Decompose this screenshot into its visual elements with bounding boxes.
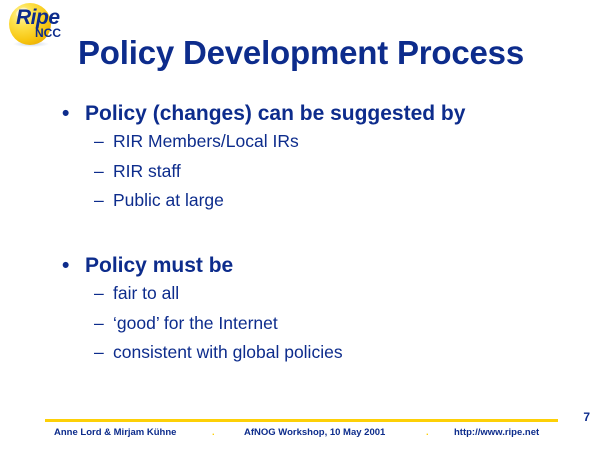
list-item: – RIR Members/Local IRs	[0, 127, 600, 157]
list-item-label: consistent with global policies	[113, 342, 343, 362]
list-item-label: ‘good’ for the Internet	[113, 313, 278, 333]
page-number: 7	[583, 410, 590, 424]
bullet-heading-1-label: Policy (changes) can be suggested by	[85, 102, 465, 125]
block-spacer	[0, 216, 600, 252]
dash-icon: –	[94, 186, 104, 216]
bullet-dot-icon: •	[62, 252, 69, 279]
bullet-block-2: • Policy must be – fair to all – ‘good’ …	[0, 252, 600, 368]
dash-icon: –	[94, 157, 104, 187]
footer-url[interactable]: http://www.ripe.net	[454, 427, 539, 438]
bullet-dot-icon: •	[62, 100, 69, 127]
dash-icon: –	[94, 338, 104, 368]
list-item: – ‘good’ for the Internet	[0, 309, 600, 339]
slide-body: • Policy (changes) can be suggested by –…	[0, 100, 600, 368]
footer-separator-dot: .	[426, 427, 429, 438]
ripe-ncc-logo: Ripe NCC	[7, 1, 65, 51]
slide-footer: Anne Lord & Mirjam Kühne . AfNOG Worksho…	[45, 427, 558, 443]
footer-divider	[45, 419, 558, 422]
list-item: – RIR staff	[0, 157, 600, 187]
footer-separator-dot: .	[212, 427, 215, 438]
list-item-label: Public at large	[113, 190, 224, 210]
list-item-label: RIR Members/Local IRs	[113, 131, 299, 151]
list-item: – fair to all	[0, 279, 600, 309]
dash-icon: –	[94, 309, 104, 339]
bullet-heading-2: • Policy must be	[0, 252, 600, 279]
slide-canvas: Ripe NCC Policy Development Process • Po…	[0, 0, 600, 450]
footer-event: AfNOG Workshop, 10 May 2001	[244, 427, 385, 438]
bullet-heading-2-label: Policy must be	[85, 254, 233, 277]
list-item-label: fair to all	[113, 283, 179, 303]
page-title: Policy Development Process	[78, 36, 578, 71]
list-item: – consistent with global policies	[0, 338, 600, 368]
bullet-block-1: • Policy (changes) can be suggested by –…	[0, 100, 600, 216]
list-item: – Public at large	[0, 186, 600, 216]
list-item-label: RIR staff	[113, 161, 181, 181]
footer-author: Anne Lord & Mirjam Kühne	[54, 427, 176, 438]
logo-ncc-text: NCC	[35, 27, 61, 39]
dash-icon: –	[94, 279, 104, 309]
dash-icon: –	[94, 127, 104, 157]
bullet-heading-1: • Policy (changes) can be suggested by	[0, 100, 600, 127]
logo-ripe-text: Ripe	[16, 7, 60, 28]
